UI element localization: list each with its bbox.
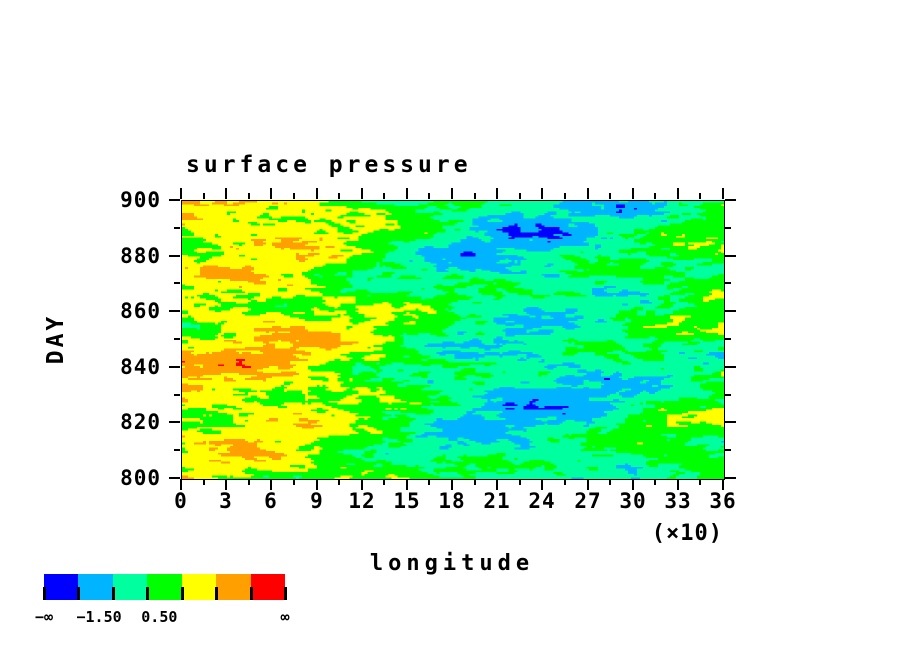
colorbar-tick <box>146 587 149 600</box>
x-minor-tick-top <box>519 193 521 199</box>
x-minor-tick-top <box>609 193 611 199</box>
x-minor-tick <box>338 479 340 485</box>
y-minor-tick <box>174 449 180 451</box>
x-minor-tick <box>203 479 205 485</box>
colorbar-label: −∞ <box>35 608 53 626</box>
x-tick-label: 9 <box>310 489 324 513</box>
x-minor-tick <box>474 479 476 485</box>
y-tick-label: 880 <box>0 244 161 268</box>
x-major-tick-top <box>677 188 679 199</box>
x-minor-tick-top <box>338 193 340 199</box>
x-minor-tick-top <box>293 193 295 199</box>
x-major-tick-top <box>722 188 724 199</box>
y-minor-tick <box>174 338 180 340</box>
colorbar-tick <box>250 587 253 600</box>
y-major-tick-right <box>725 310 736 312</box>
x-minor-tick-top <box>248 193 250 199</box>
x-minor-tick <box>519 479 521 485</box>
y-minor-tick-right <box>725 449 731 451</box>
colorbar-tick <box>43 587 46 600</box>
x-minor-tick <box>654 479 656 485</box>
colorbar-tick <box>181 587 184 600</box>
y-major-tick-right <box>725 366 736 368</box>
x-axis-label: longitude <box>370 551 534 576</box>
y-major-tick <box>169 366 180 368</box>
x-major-tick-top <box>587 188 589 199</box>
x-major-tick-top <box>361 188 363 199</box>
y-minor-tick <box>174 394 180 396</box>
x-axis-scale-note: (×10) <box>652 521 723 546</box>
x-minor-tick <box>564 479 566 485</box>
x-minor-tick-top <box>428 193 430 199</box>
x-minor-tick <box>248 479 250 485</box>
x-minor-tick-top <box>474 193 476 199</box>
colorbar-tick <box>77 587 80 600</box>
y-minor-tick-right <box>725 338 731 340</box>
x-minor-tick <box>699 479 701 485</box>
colorbar-cell-0 <box>44 574 78 600</box>
x-major-tick-top <box>541 188 543 199</box>
x-tick-label: 12 <box>348 489 375 513</box>
heatmap-plot-area <box>181 200 725 480</box>
colorbar-label: 0.50 <box>141 608 177 626</box>
y-tick-label: 900 <box>0 188 161 212</box>
y-major-tick <box>169 310 180 312</box>
y-minor-tick <box>174 227 180 229</box>
x-tick-label: 30 <box>619 489 646 513</box>
y-major-tick-right <box>725 477 736 479</box>
y-major-tick-right <box>725 421 736 423</box>
colorbar-cell-3 <box>147 574 181 600</box>
y-major-tick <box>169 255 180 257</box>
y-axis-label: DAY <box>43 314 69 365</box>
x-tick-label: 3 <box>219 489 233 513</box>
x-minor-tick <box>383 479 385 485</box>
x-tick-label: 24 <box>528 489 555 513</box>
x-tick-label: 21 <box>483 489 510 513</box>
y-major-tick-right <box>725 255 736 257</box>
y-major-tick <box>169 199 180 201</box>
colorbar-tick <box>215 587 218 600</box>
y-tick-label: 820 <box>0 410 161 434</box>
x-major-tick-top <box>496 188 498 199</box>
x-minor-tick-top <box>699 193 701 199</box>
x-major-tick-top <box>632 188 634 199</box>
colorbar-cell-4 <box>182 574 216 600</box>
x-minor-tick-top <box>564 193 566 199</box>
colorbar-label: −1.50 <box>77 608 122 626</box>
y-minor-tick-right <box>725 282 731 284</box>
x-tick-label: 27 <box>574 489 601 513</box>
y-major-tick <box>169 421 180 423</box>
x-tick-label: 15 <box>393 489 420 513</box>
colorbar-tick <box>284 587 287 600</box>
x-major-tick-top <box>180 188 182 199</box>
x-minor-tick <box>428 479 430 485</box>
heatmap-canvas <box>182 201 724 479</box>
colorbar-cell-1 <box>78 574 112 600</box>
y-major-tick <box>169 477 180 479</box>
y-minor-tick <box>174 282 180 284</box>
colorbar-label: ∞ <box>280 608 289 626</box>
x-minor-tick-top <box>383 193 385 199</box>
x-minor-tick-top <box>203 193 205 199</box>
y-minor-tick-right <box>725 227 731 229</box>
x-tick-label: 18 <box>438 489 465 513</box>
y-major-tick-right <box>725 199 736 201</box>
x-major-tick-top <box>225 188 227 199</box>
x-major-tick-top <box>451 188 453 199</box>
y-tick-label: 800 <box>0 466 161 490</box>
colorbar-cell-5 <box>216 574 250 600</box>
y-minor-tick-right <box>725 394 731 396</box>
x-tick-label: 6 <box>264 489 278 513</box>
x-major-tick-top <box>316 188 318 199</box>
colorbar-cell-6 <box>251 574 285 600</box>
x-tick-label: 36 <box>709 489 736 513</box>
x-minor-tick-top <box>654 193 656 199</box>
colorbar-tick <box>112 587 115 600</box>
x-minor-tick <box>609 479 611 485</box>
x-major-tick-top <box>406 188 408 199</box>
x-major-tick-top <box>270 188 272 199</box>
colorbar-cell-2 <box>113 574 147 600</box>
chart-title: surface pressure <box>186 152 472 178</box>
y-tick-label: 860 <box>0 299 161 323</box>
x-tick-label: 0 <box>174 489 188 513</box>
x-minor-tick <box>293 479 295 485</box>
x-tick-label: 33 <box>664 489 691 513</box>
y-tick-label: 840 <box>0 355 161 379</box>
